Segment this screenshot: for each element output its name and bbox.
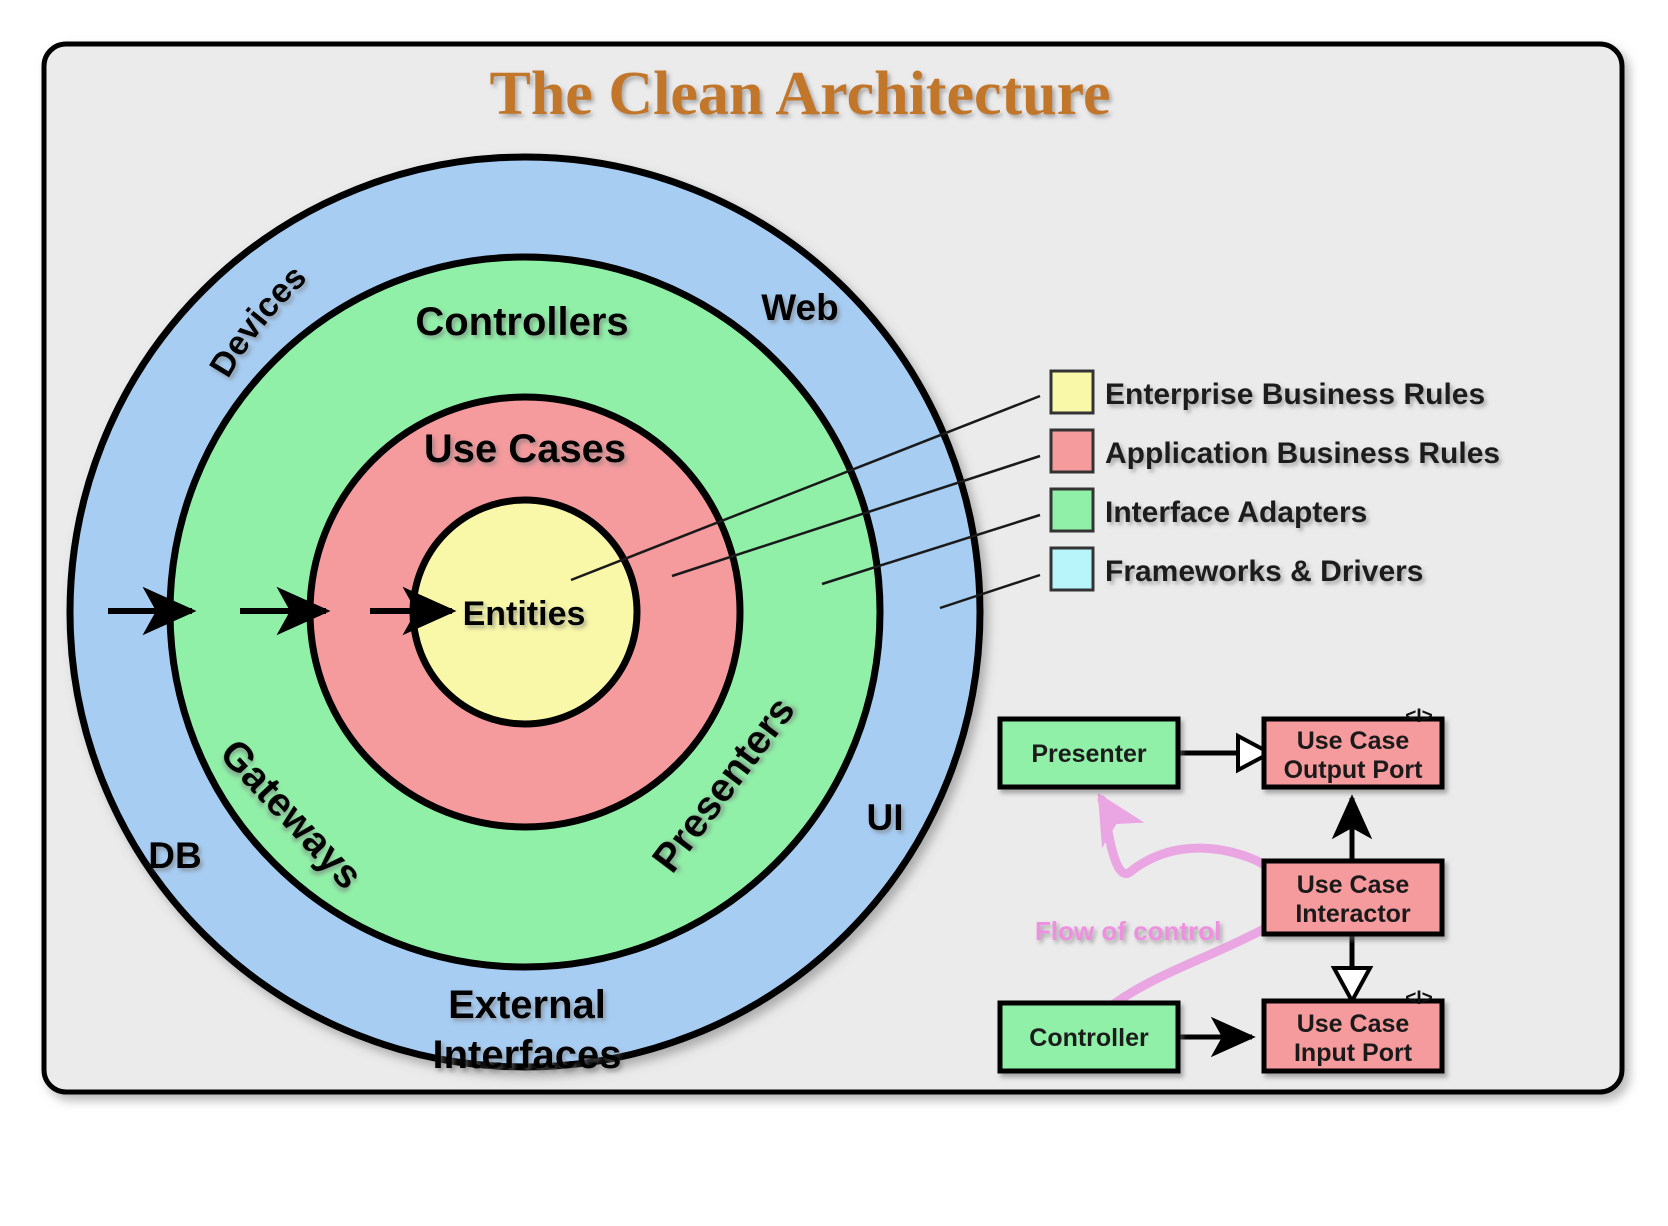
uml-box-interactor-line2: Interactor bbox=[1295, 900, 1411, 928]
legend-swatch-application-business-rules bbox=[1051, 430, 1093, 472]
uml-box-presenter-label: Presenter bbox=[1031, 740, 1147, 768]
uml-box-interactor-line1: Use Case bbox=[1297, 871, 1410, 899]
diagram-canvas: The Clean Architecture Devices Web UI DB… bbox=[0, 0, 1668, 1226]
uml-box-output-port-line2: Output Port bbox=[1284, 756, 1424, 784]
flow-of-control-label: Flow of control bbox=[1035, 916, 1221, 946]
legend-item-enterprise-business-rules: Enterprise Business Rules bbox=[1051, 371, 1485, 413]
clean-architecture-diagram: The Clean Architecture Devices Web UI DB… bbox=[0, 0, 1668, 1226]
legend-label-frameworks-and-drivers: Frameworks & Drivers bbox=[1105, 555, 1424, 588]
page-title: The Clean Architecture bbox=[489, 60, 1110, 128]
ring-label-interfaces: Interfaces bbox=[433, 1033, 622, 1077]
ring-label-web: Web bbox=[761, 287, 838, 328]
uml-box-controller[interactable]: Controller bbox=[1000, 1003, 1178, 1071]
legend-item-frameworks-and-drivers: Frameworks & Drivers bbox=[1051, 548, 1424, 590]
legend-item-application-business-rules: Application Business Rules bbox=[1051, 430, 1500, 472]
uml-box-presenter[interactable]: Presenter bbox=[1000, 719, 1178, 787]
ring-label-controllers: Controllers bbox=[415, 300, 628, 344]
uml-box-input-port-line1: Use Case bbox=[1297, 1010, 1410, 1038]
uml-box-use-case-output-port[interactable]: Use Case Output Port <I> bbox=[1264, 706, 1442, 787]
ring-label-external: External bbox=[448, 983, 606, 1027]
interface-stereotype-icon-output: <I> bbox=[1405, 706, 1432, 727]
uml-box-use-case-input-port[interactable]: Use Case Input Port <I> bbox=[1264, 988, 1442, 1071]
legend-swatch-enterprise-business-rules bbox=[1051, 371, 1093, 413]
legend-label-enterprise-business-rules: Enterprise Business Rules bbox=[1105, 378, 1485, 411]
uml-box-input-port-line2: Input Port bbox=[1294, 1039, 1413, 1067]
legend-swatch-interface-adapters bbox=[1051, 489, 1093, 531]
uml-box-use-case-interactor[interactable]: Use Case Interactor bbox=[1264, 861, 1442, 934]
legend-swatch-frameworks-and-drivers bbox=[1051, 548, 1093, 590]
uml-box-controller-label: Controller bbox=[1029, 1024, 1149, 1052]
ring-label-db: DB bbox=[148, 835, 201, 876]
uml-box-output-port-line1: Use Case bbox=[1297, 727, 1410, 755]
legend-label-application-business-rules: Application Business Rules bbox=[1105, 437, 1500, 470]
legend-label-interface-adapters: Interface Adapters bbox=[1105, 496, 1367, 529]
ring-label-use-cases: Use Cases bbox=[424, 427, 626, 471]
interface-stereotype-icon-input: <I> bbox=[1405, 988, 1432, 1009]
ring-label-ui: UI bbox=[867, 797, 904, 838]
ring-label-entities: Entities bbox=[463, 595, 586, 633]
